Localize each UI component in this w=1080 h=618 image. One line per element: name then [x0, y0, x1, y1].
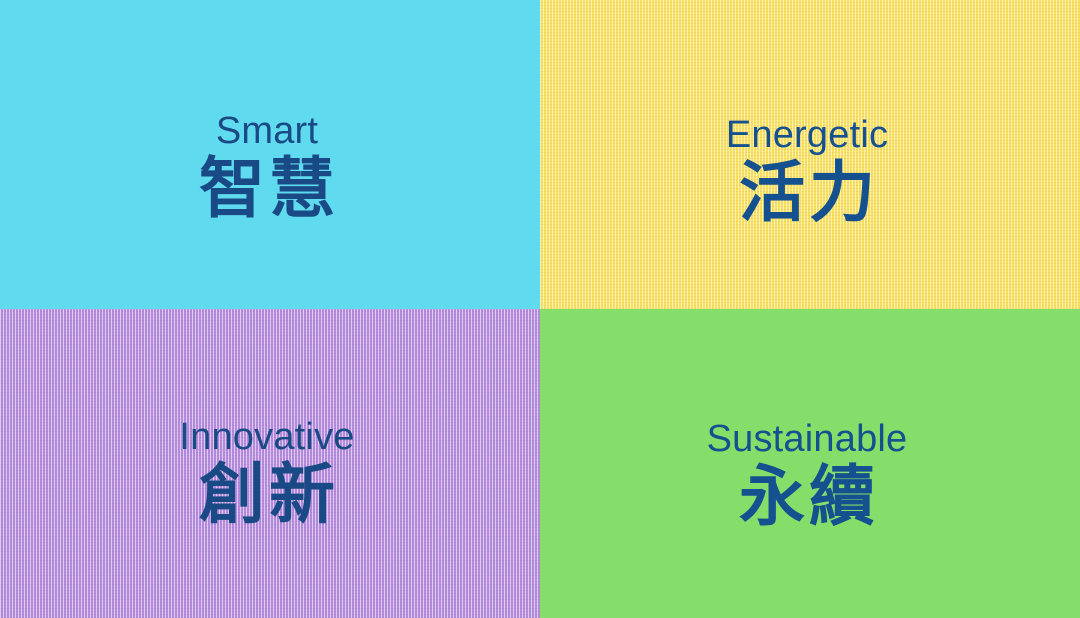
- value-label-zh-sustainable: 永續: [735, 464, 879, 530]
- value-panel-innovative[interactable]: Innovative 創新: [0, 309, 540, 618]
- value-panel-text-block: Sustainable 永續: [707, 420, 908, 530]
- value-label-zh-energetic: 活力: [735, 160, 879, 226]
- value-label-en-sustainable: Sustainable: [707, 420, 908, 458]
- value-label-en-energetic: Energetic: [726, 116, 888, 154]
- value-panel-energetic[interactable]: Energetic 活力: [540, 0, 1080, 309]
- value-panel-smart[interactable]: Smart 智慧: [0, 0, 540, 309]
- value-panel-text-block: Innovative 創新: [179, 418, 354, 528]
- value-label-en-smart: Smart: [216, 112, 318, 150]
- value-panel-text-block: Energetic 活力: [726, 116, 888, 226]
- value-panel-text-block: Smart 智慧: [195, 112, 339, 222]
- value-panel-sustainable[interactable]: Sustainable 永續: [540, 309, 1080, 618]
- value-label-zh-smart: 智慧: [195, 156, 339, 222]
- value-label-zh-innovative: 創新: [195, 462, 339, 528]
- value-label-en-innovative: Innovative: [179, 418, 354, 456]
- brand-values-grid: Smart 智慧 Energetic 活力 Innovative 創新 Sust…: [0, 0, 1080, 618]
